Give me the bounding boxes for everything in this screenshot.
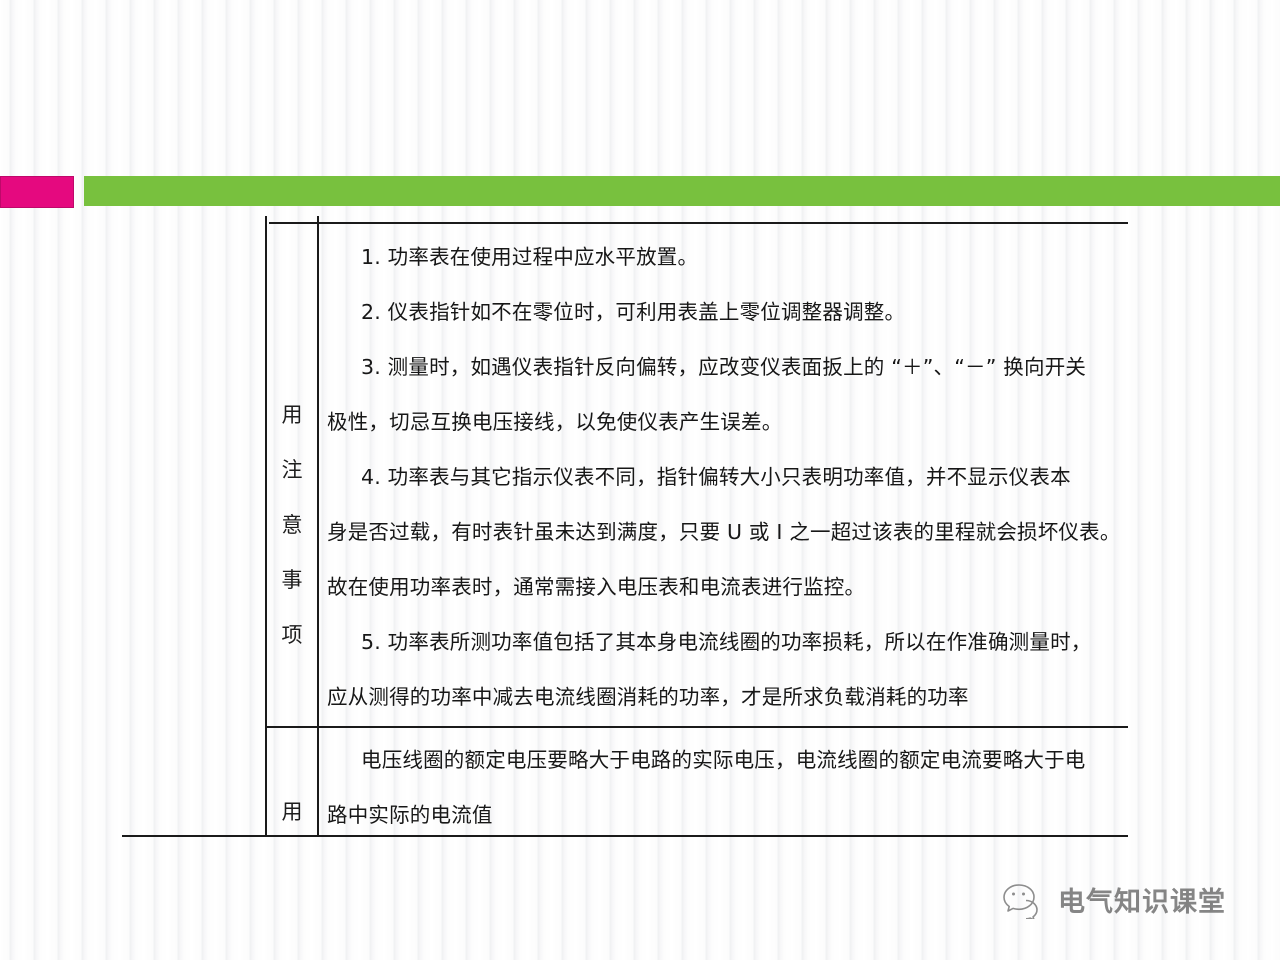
wechat-icon: [1000, 881, 1046, 919]
note-item-5-cont: 应从测得的功率中减去电流线圈消耗的功率，才是所求负载消耗的功率: [327, 670, 1127, 725]
watermark: 电气知识课堂: [1000, 880, 1226, 919]
slide-canvas: 用 注 意 事 项 1. 功率表在使用过程中应水平放置。 2. 仪表指针如不在零…: [0, 0, 1280, 960]
table-row: 用 注 意 事 项: [267, 405, 317, 646]
accent-bar-magenta: [0, 176, 74, 208]
row-label-char: 项: [282, 625, 303, 646]
row-label-char: 注: [282, 460, 303, 481]
table-row-divider: [265, 726, 1128, 728]
selection-line-1: 电压线圈的额定电压要略大于电路的实际电压，电流线圈的额定电流要略大于电: [327, 733, 1127, 788]
note-item-3-cont: 极性，切忌互换电压接线，以免使仪表产生误差。: [327, 395, 1127, 450]
note-item-4-cont-b: 故在使用功率表时，通常需接入电压表和电流表进行监控。: [327, 560, 1127, 615]
row-label-char: 用: [282, 405, 303, 426]
note-item-3: 3. 测量时，如遇仪表指针反向偏转，应改变仪表面扳上的 “＋”、“－” 换向开关: [327, 340, 1127, 395]
table-column-separator: [317, 216, 319, 836]
row-label-char: 意: [282, 515, 303, 536]
note-item-4: 4. 功率表与其它指示仪表不同，指针偏转大小只表明功率值，并不显示仪表本: [327, 450, 1127, 505]
note-item-4-cont-a: 身是否过载，有时表针虽未达到满度，只要 U 或 I 之一超过该表的里程就会损坏仪…: [327, 505, 1127, 560]
note-item-1: 1. 功率表在使用过程中应水平放置。: [327, 230, 1127, 285]
row-content-selection: 电压线圈的额定电压要略大于电路的实际电压，电流线圈的额定电流要略大于电 路中实际…: [327, 733, 1127, 843]
row-label-char: 事: [282, 570, 303, 591]
selection-line-2: 路中实际的电流值: [327, 788, 1127, 843]
row-content-usage-notes: 1. 功率表在使用过程中应水平放置。 2. 仪表指针如不在零位时，可利用表盖上零…: [327, 230, 1127, 725]
watermark-text: 电气知识课堂: [1058, 880, 1226, 919]
table-row: 用: [267, 802, 317, 823]
row-label-char: 用: [282, 802, 303, 823]
note-item-2: 2. 仪表指针如不在零位时，可利用表盖上零位调整器调整。: [327, 285, 1127, 340]
table-border-top: [269, 222, 1128, 224]
note-item-5: 5. 功率表所测功率值包括了其本身电流线圈的功率损耗，所以在作准确测量时，: [327, 615, 1127, 670]
accent-bar-green: [84, 176, 1280, 206]
